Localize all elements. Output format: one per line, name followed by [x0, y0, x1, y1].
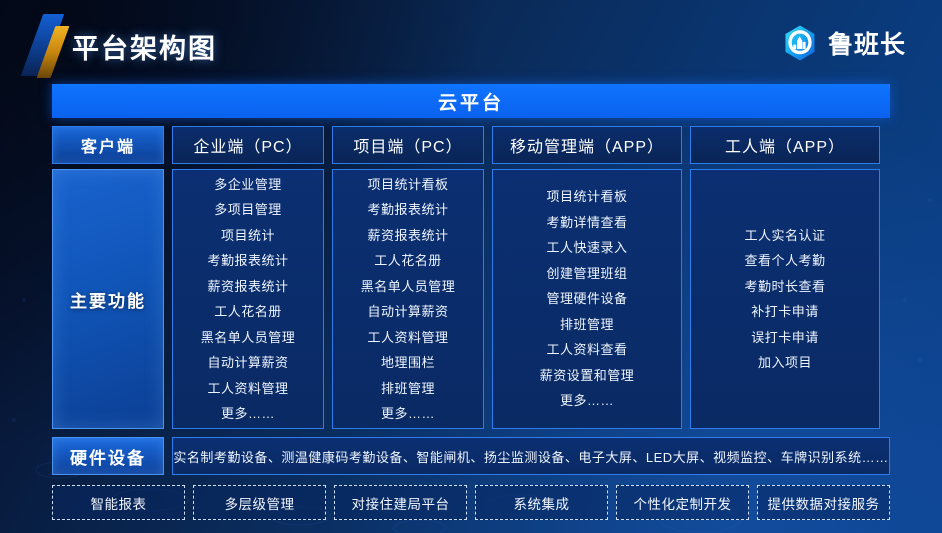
feature-list-mobile-admin: 项目统计看板 考勤详情查看 工人快速录入 创建管理班组 管理硬件设备 排班管理 …	[492, 169, 682, 429]
column-header-project: 项目端（PC）	[332, 126, 484, 164]
service-tag: 提供数据对接服务	[757, 485, 890, 520]
feature-item: 薪资报表统计	[207, 274, 288, 300]
feature-list-worker: 工人实名认证 查看个人考勤 考勤时长查看 补打卡申请 误打卡申请 加入项目	[690, 169, 880, 429]
feature-item: 项目统计看板	[546, 184, 627, 210]
feature-item: 项目统计看板	[367, 172, 448, 198]
service-tag: 对接住建局平台	[334, 485, 467, 520]
feature-item: 排班管理	[381, 376, 435, 402]
feature-list-project: 项目统计看板 考勤报表统计 薪资报表统计 工人花名册 黑名单人员管理 自动计算薪…	[332, 169, 484, 429]
hexagon-building-logo-icon	[781, 24, 819, 62]
service-tag: 多层级管理	[193, 485, 326, 520]
feature-item: 工人花名册	[214, 299, 282, 325]
row-label-hardware: 硬件设备	[52, 437, 164, 475]
feature-item: 加入项目	[758, 350, 812, 376]
feature-item: 工人资料查看	[546, 337, 627, 363]
feature-item: 自动计算薪资	[367, 299, 448, 325]
feature-item: 考勤详情查看	[546, 210, 627, 236]
brand-lockup: 鲁班长	[781, 24, 906, 62]
slanted-bars-decoration-icon	[14, 14, 78, 76]
row-label-main-functions-cell: 主要功能	[52, 169, 164, 429]
service-tag: 智能报表	[52, 485, 185, 520]
feature-item: 自动计算薪资	[207, 350, 288, 376]
page-title: 平台架构图	[72, 27, 217, 66]
cloud-platform-banner: 云平台	[52, 84, 890, 118]
column-header-worker: 工人端（APP）	[690, 126, 880, 164]
feature-item: 工人花名册	[374, 248, 442, 274]
feature-item: 黑名单人员管理	[361, 274, 456, 300]
feature-item-more: 更多……	[560, 388, 614, 414]
feature-item: 考勤报表统计	[367, 197, 448, 223]
feature-item: 排班管理	[560, 312, 614, 338]
row-label-main-functions: 主要功能	[70, 287, 146, 312]
feature-item: 创建管理班组	[546, 261, 627, 287]
service-tag: 系统集成	[475, 485, 608, 520]
feature-item: 考勤时长查看	[744, 274, 825, 300]
feature-item-more: 更多……	[221, 401, 275, 427]
feature-item: 考勤报表统计	[207, 248, 288, 274]
service-tag: 个性化定制开发	[616, 485, 749, 520]
feature-item: 多项目管理	[214, 197, 282, 223]
feature-item-more: 更多……	[381, 401, 435, 427]
feature-item: 黑名单人员管理	[201, 325, 296, 351]
feature-body-row: 主要功能 多企业管理 多项目管理 项目统计 考勤报表统计 薪资报表统计 工人花名…	[52, 169, 890, 429]
feature-item: 工人实名认证	[744, 223, 825, 249]
column-header-mobile-admin: 移动管理端（APP）	[492, 126, 682, 164]
feature-item: 多企业管理	[214, 172, 282, 198]
feature-item: 薪资设置和管理	[540, 363, 635, 389]
feature-item: 补打卡申请	[751, 299, 819, 325]
brand-name: 鲁班长	[828, 25, 906, 61]
feature-item: 误打卡申请	[751, 325, 819, 351]
feature-item: 工人快速录入	[546, 235, 627, 261]
architecture-diagram: 云平台 客户端 企业端（PC） 项目端（PC） 移动管理端（APP） 工人端（A…	[52, 84, 890, 520]
feature-item: 薪资报表统计	[367, 223, 448, 249]
feature-item: 工人资料管理	[207, 376, 288, 402]
feature-item: 查看个人考勤	[744, 248, 825, 274]
hardware-device-list: 实名制考勤设备、测温健康码考勤设备、智能闸机、扬尘监测设备、电子大屏、LED大屏…	[172, 437, 890, 475]
feature-item: 项目统计	[221, 223, 275, 249]
feature-item: 地理围栏	[381, 350, 435, 376]
column-header-enterprise: 企业端（PC）	[172, 126, 324, 164]
feature-item: 管理硬件设备	[546, 286, 627, 312]
hardware-row: 硬件设备 实名制考勤设备、测温健康码考勤设备、智能闸机、扬尘监测设备、电子大屏、…	[52, 437, 890, 475]
page-header: 平台架构图 鲁班长	[0, 0, 942, 80]
feature-list-enterprise: 多企业管理 多项目管理 项目统计 考勤报表统计 薪资报表统计 工人花名册 黑名单…	[172, 169, 324, 429]
feature-item: 工人资料管理	[367, 325, 448, 351]
column-header-row: 客户端 企业端（PC） 项目端（PC） 移动管理端（APP） 工人端（APP）	[52, 126, 890, 164]
service-tag-row: 智能报表 多层级管理 对接住建局平台 系统集成 个性化定制开发 提供数据对接服务	[52, 485, 890, 520]
row-label-client: 客户端	[52, 126, 164, 164]
